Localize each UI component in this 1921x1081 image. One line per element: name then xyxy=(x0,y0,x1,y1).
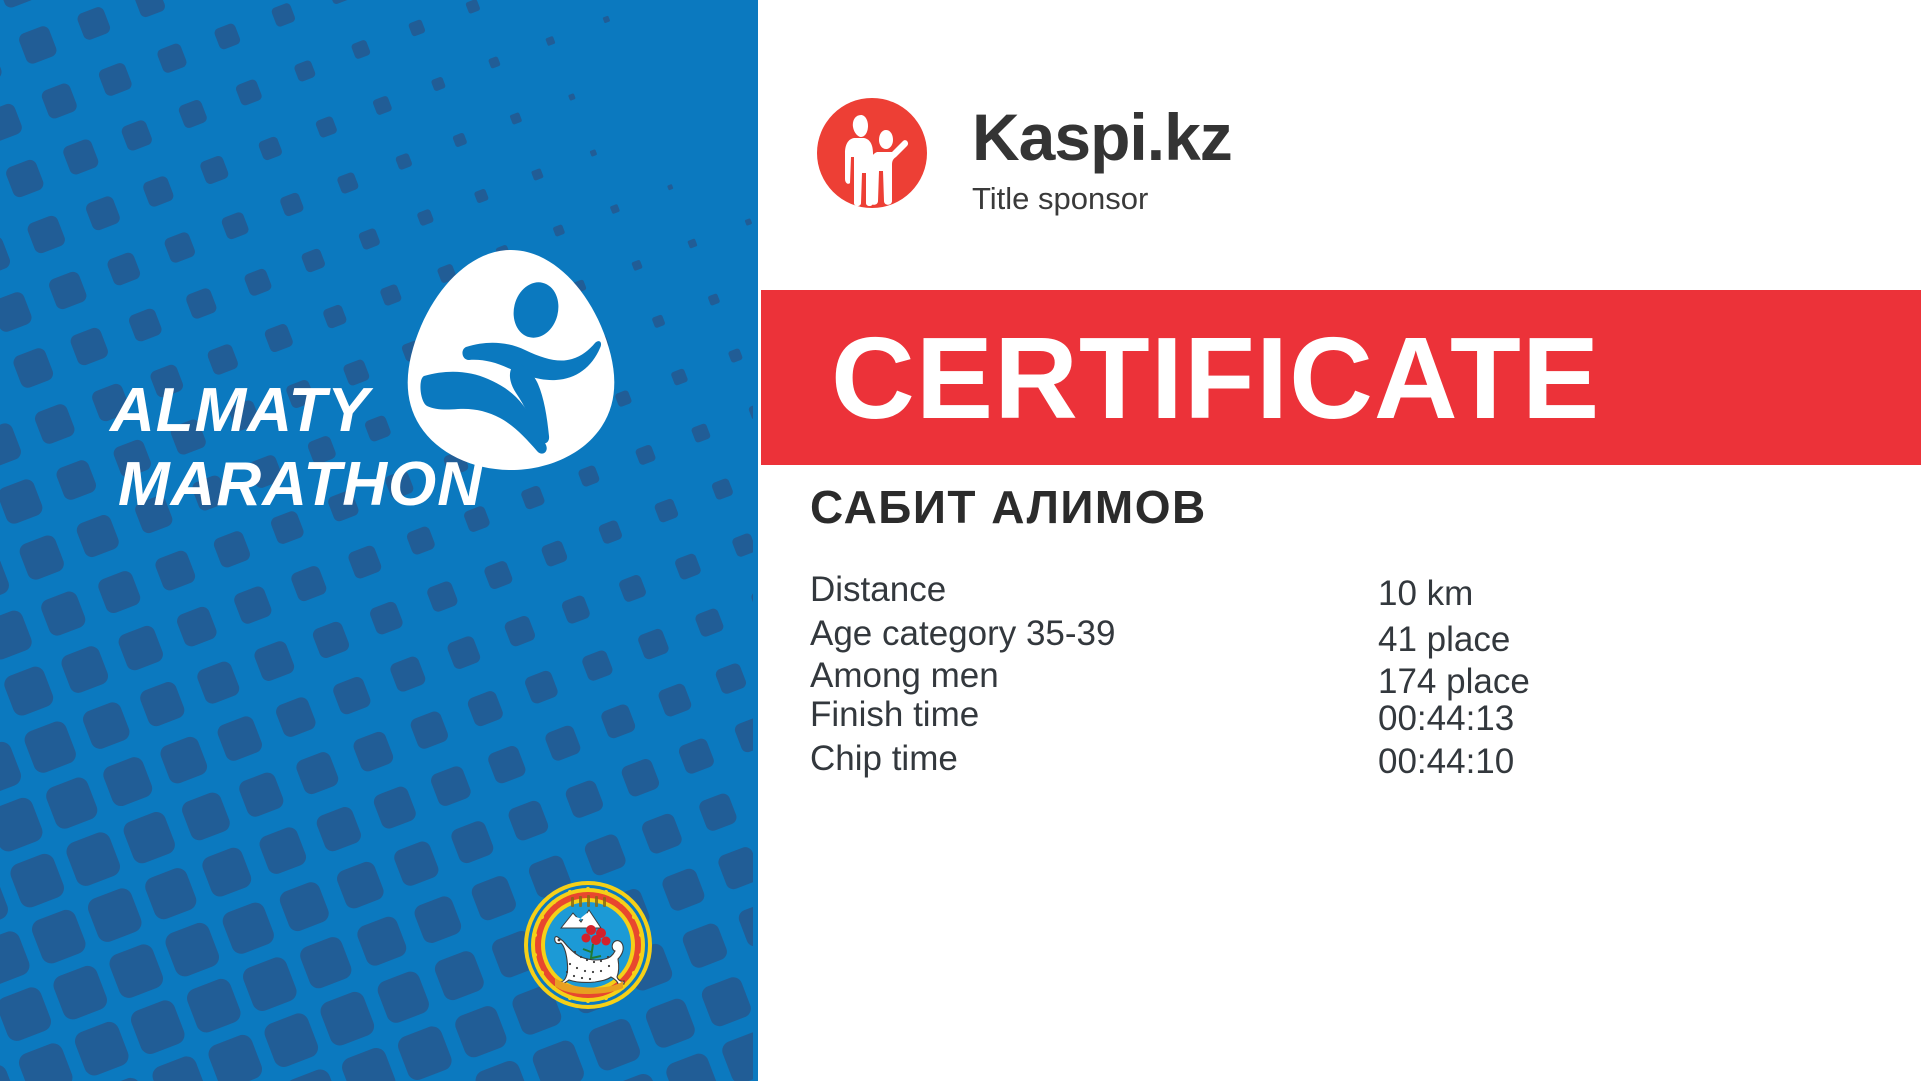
detail-value: 00:44:13 xyxy=(1378,699,1514,739)
detail-label: Age category 35-39 xyxy=(810,614,1115,654)
certificate-banner: CERTIFICATE xyxy=(761,290,1921,465)
athlete-name: САБИТ АЛИМОВ xyxy=(810,480,1207,534)
left-brand-panel: ALMATY MARATHON xyxy=(0,0,758,1081)
almaty-marathon-wordmark: ALMATY MARATHON xyxy=(96,374,656,522)
brand-line-1: ALMATY xyxy=(96,374,656,448)
certificate-page: ALMATY MARATHON xyxy=(0,0,1921,1081)
panel-right-edge xyxy=(753,0,758,1081)
brand-line-2: MARATHON xyxy=(96,448,656,522)
detail-label: Distance xyxy=(810,570,946,610)
detail-label: Finish time xyxy=(810,695,979,735)
detail-value: 174 place xyxy=(1378,662,1530,702)
kaspi-people-circle-icon xyxy=(814,95,930,211)
title-sponsor-block: Kaspi.kz Title sponsor xyxy=(814,95,1232,219)
almaty-city-coat-of-arms-snow-leopard-icon xyxy=(523,880,653,1010)
detail-value: 41 place xyxy=(1378,620,1510,660)
detail-label: Chip time xyxy=(810,739,958,779)
almaty-marathon-logo: ALMATY MARATHON xyxy=(96,246,656,576)
detail-label: Among men xyxy=(810,656,999,696)
sponsor-name: Kaspi.kz xyxy=(972,101,1232,173)
detail-value: 00:44:10 xyxy=(1378,742,1514,782)
sponsor-role-label: Title sponsor xyxy=(972,179,1232,219)
certificate-title: CERTIFICATE xyxy=(761,318,1600,438)
detail-value: 10 km xyxy=(1378,574,1473,614)
